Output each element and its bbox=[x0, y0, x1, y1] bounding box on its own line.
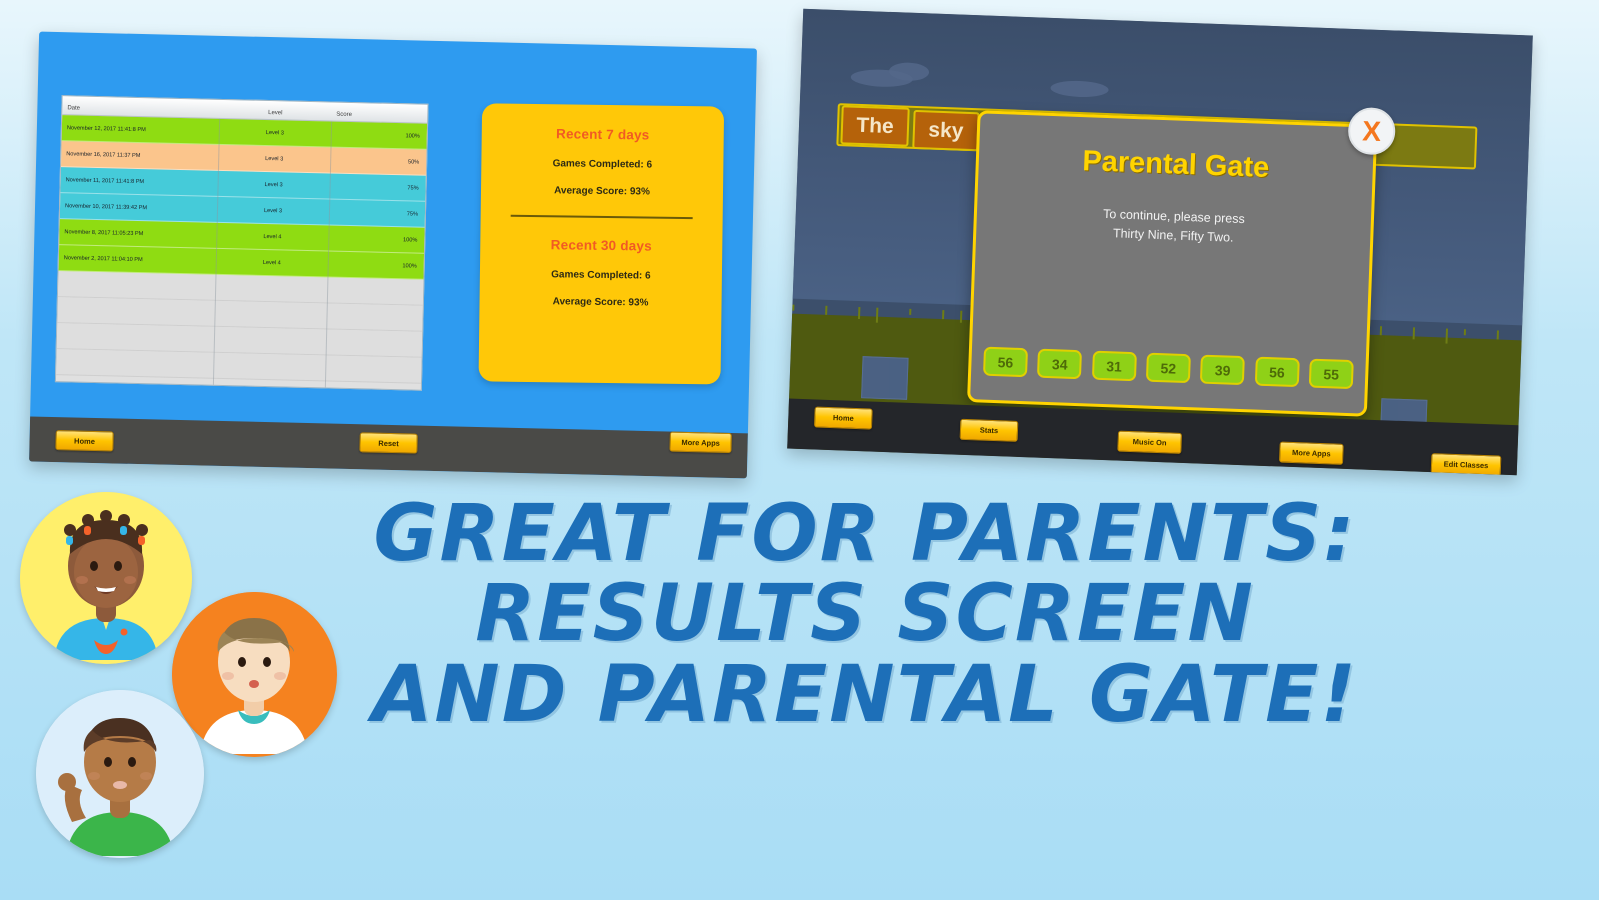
cell-date: November 12, 2017 11:41:8 PM bbox=[62, 125, 219, 135]
recent-30-days-title: Recent 30 days bbox=[551, 237, 652, 253]
cell-date: November 11, 2017 11:41:8 PM bbox=[61, 177, 218, 187]
recent-7-days-title: Recent 7 days bbox=[556, 126, 650, 142]
cell-level: Level 3 bbox=[218, 154, 330, 163]
game-edit-button[interactable]: Edit Classes bbox=[1431, 453, 1502, 475]
word-tile-the[interactable]: The bbox=[840, 105, 909, 146]
cloud-icon bbox=[1050, 80, 1109, 98]
game-screen-device: The sky X Parental Gate To continue, ple… bbox=[787, 9, 1533, 475]
recent-7-days-games: Games Completed: 6 bbox=[553, 158, 653, 170]
parental-gate-title: Parental Gate bbox=[978, 141, 1373, 188]
grass-blade bbox=[1464, 329, 1466, 335]
parental-gate-instructions: To continue, please press Thirty Nine, F… bbox=[976, 200, 1371, 253]
prev-arrow-box[interactable] bbox=[861, 356, 909, 400]
cell-date: November 2, 2017 11:04:10 PM bbox=[59, 255, 216, 265]
cell-level: Level 3 bbox=[217, 206, 329, 215]
more-apps-button[interactable]: More Apps bbox=[669, 432, 731, 453]
reset-button[interactable]: Reset bbox=[359, 432, 417, 453]
recent-7-days-average: Average Score: 93% bbox=[554, 185, 650, 197]
avatar-boy-green-shirt bbox=[36, 690, 204, 858]
results-screen-device: Date Level Score November 12, 2017 11:41… bbox=[29, 32, 757, 479]
cell-score: 100% bbox=[331, 131, 427, 139]
grass-blade bbox=[858, 307, 860, 319]
cell-level: Level 4 bbox=[216, 232, 328, 241]
recent-30-days-average: Average Score: 93% bbox=[553, 296, 649, 308]
cell-score: 75% bbox=[329, 209, 425, 217]
cell-score: 75% bbox=[330, 183, 426, 191]
grass-blade bbox=[876, 308, 879, 323]
avatar-girl-braids bbox=[20, 492, 192, 664]
stats-summary-card: Recent 7 days Games Completed: 6 Average… bbox=[479, 103, 725, 384]
grass-blade bbox=[1497, 330, 1499, 339]
game-more-apps-button[interactable]: More Apps bbox=[1279, 442, 1344, 465]
headline-line-3: AND PARENTAL GATE! bbox=[250, 655, 1480, 735]
grass-blade bbox=[909, 309, 911, 315]
grass-blade bbox=[1413, 327, 1415, 339]
recent-30-days-games: Games Completed: 6 bbox=[551, 269, 651, 281]
cell-date: November 10, 2017 11:39:42 PM bbox=[60, 203, 217, 213]
gate-number-button[interactable]: 55 bbox=[1309, 359, 1354, 390]
results-table[interactable]: Date Level Score November 12, 2017 11:41… bbox=[55, 95, 429, 391]
cell-score: 50% bbox=[330, 157, 426, 165]
headline-line-1: GREAT FOR PARENTS: bbox=[250, 494, 1480, 574]
gate-number-button[interactable]: 56 bbox=[1254, 357, 1299, 388]
grass-blade bbox=[825, 306, 827, 315]
cell-score: 100% bbox=[328, 261, 424, 269]
game-music-button[interactable]: Music On bbox=[1117, 431, 1182, 454]
headline: GREAT FOR PARENTS: RESULTS SCREEN AND PA… bbox=[250, 494, 1480, 735]
grass-blade bbox=[942, 310, 944, 319]
game-home-button[interactable]: Home bbox=[814, 406, 873, 429]
cell-score: 100% bbox=[328, 235, 424, 243]
home-button[interactable]: Home bbox=[55, 430, 113, 451]
gate-number-button[interactable]: 34 bbox=[1037, 349, 1082, 380]
game-stats-button[interactable]: Stats bbox=[960, 419, 1019, 442]
gate-number-button[interactable]: 52 bbox=[1146, 353, 1191, 384]
avatar-boy-white-shirt bbox=[172, 592, 337, 757]
parental-gate-modal: X Parental Gate To continue, please pres… bbox=[967, 110, 1377, 416]
cell-date: November 16, 2017 11:37 PM bbox=[61, 151, 218, 161]
headline-line-2: RESULTS SCREEN bbox=[250, 574, 1480, 654]
grass-blade bbox=[960, 311, 962, 323]
grass-blade bbox=[1445, 329, 1448, 344]
gate-number-button[interactable]: 56 bbox=[983, 347, 1028, 378]
parental-gate-number-row: 56343152395655 bbox=[983, 347, 1354, 390]
cell-date: November 8, 2017 11:05:23 PM bbox=[59, 229, 216, 239]
grass-blade bbox=[792, 305, 794, 311]
cell-level: Level 3 bbox=[218, 180, 330, 189]
game-screen-body: The sky X Parental Gate To continue, ple… bbox=[787, 9, 1533, 475]
stats-divider bbox=[511, 215, 693, 219]
gate-number-button[interactable]: 39 bbox=[1200, 355, 1245, 386]
cell-level: Level 3 bbox=[219, 128, 331, 137]
grass-blade bbox=[1380, 326, 1382, 335]
cell-level: Level 4 bbox=[216, 258, 328, 267]
word-tile-sky[interactable]: sky bbox=[912, 110, 979, 151]
results-screen-body: Date Level Score November 12, 2017 11:41… bbox=[29, 32, 757, 479]
gate-number-button[interactable]: 31 bbox=[1092, 351, 1137, 382]
